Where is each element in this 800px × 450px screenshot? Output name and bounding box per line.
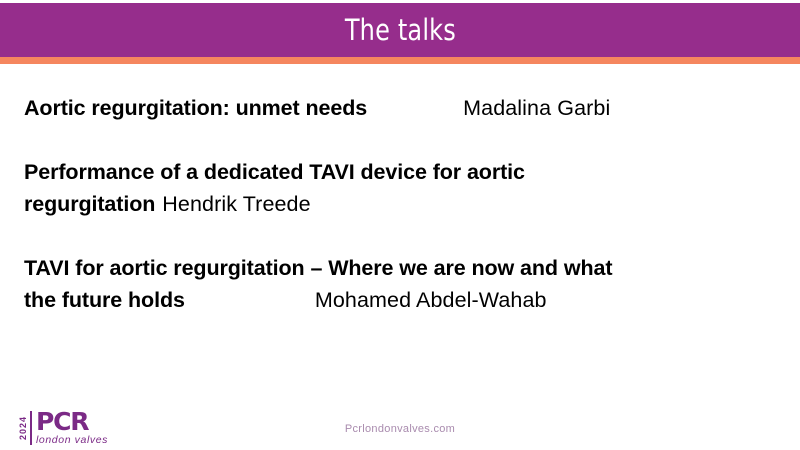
logo-brand-text: PCR (36, 410, 108, 434)
list-item: TAVI for aortic regurgitation – Where we… (24, 252, 780, 316)
footer-website-url: Pcrlondonvalves.com (0, 423, 800, 435)
talk-title: Aortic regurgitation: unmet needs (24, 96, 367, 120)
talks-list: Aortic regurgitation: unmet needsMadalin… (24, 92, 780, 316)
list-item: Performance of a dedicated TAVI device f… (24, 156, 780, 220)
talk-speaker: Mohamed Abdel-Wahab (315, 288, 547, 312)
accent-divider-bar (0, 57, 800, 64)
talk-title-line-1: Performance of a dedicated TAVI device f… (24, 160, 525, 184)
logo-text-block: PCR london valves (36, 409, 108, 447)
pcr-london-valves-logo: 2024 PCR london valves (18, 409, 108, 447)
talk-title-line-1: TAVI for aortic regurgitation – Where we… (24, 256, 612, 280)
slide-header-band: The talks (0, 3, 800, 57)
list-item: Aortic regurgitation: unmet needsMadalin… (24, 92, 780, 124)
talk-speaker: Madalina Garbi (463, 96, 610, 120)
talk-title-line-2: regurgitation (24, 192, 155, 216)
logo-subtitle-text: london valves (36, 435, 108, 447)
talk-speaker: Hendrik Treede (162, 192, 310, 216)
page-title: The talks (344, 13, 455, 47)
logo-divider (30, 411, 32, 445)
talk-title-line-2: the future holds (24, 288, 185, 312)
logo-year-text: 2024 (18, 409, 28, 447)
